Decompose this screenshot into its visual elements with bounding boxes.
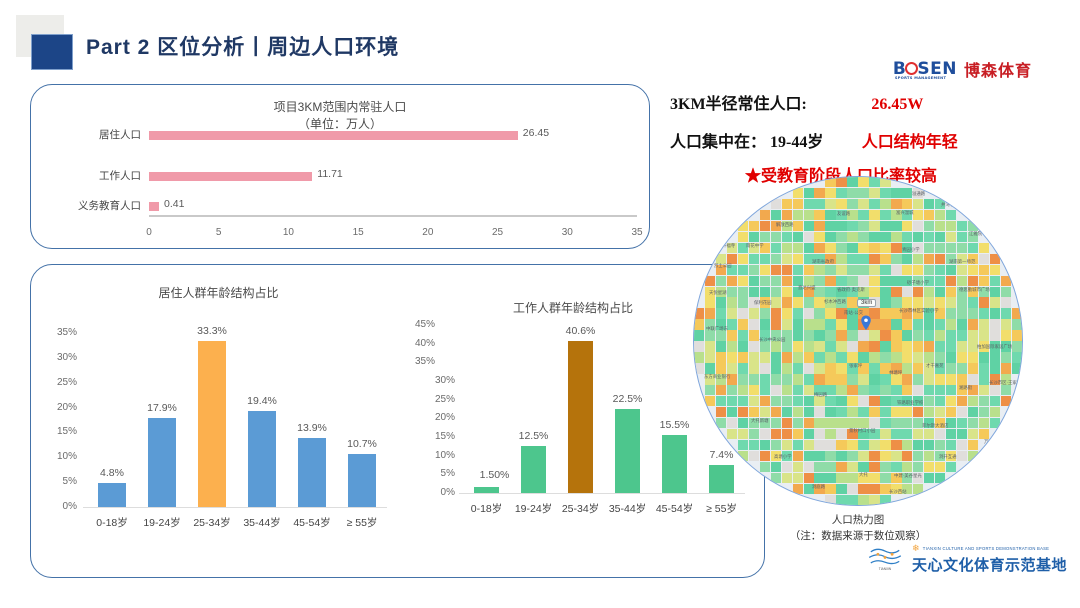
heatmap-cell bbox=[957, 418, 967, 428]
heatmap-cell bbox=[869, 199, 879, 209]
heatmap-cell bbox=[946, 308, 956, 318]
hbar-xtick-15: 15 bbox=[353, 227, 364, 238]
flame-icon: ❄ bbox=[912, 543, 920, 554]
heatmap-cell bbox=[825, 473, 835, 483]
heatmap-cell bbox=[749, 297, 759, 307]
heatmap-cell bbox=[858, 177, 868, 187]
heatmap-cell bbox=[727, 308, 737, 318]
heatmap-cell bbox=[935, 462, 945, 472]
vbar2-bar-45-54岁 bbox=[662, 435, 687, 493]
heatmap-cell bbox=[705, 177, 715, 187]
vbar1-ytick-5%: 5% bbox=[63, 476, 77, 487]
heatmap-cell bbox=[836, 199, 846, 209]
heatmap-cell bbox=[957, 495, 967, 505]
heatmap-cell bbox=[836, 341, 846, 351]
heatmap-cell bbox=[694, 341, 704, 351]
heatmap-cell bbox=[716, 407, 726, 417]
heatmap-cell bbox=[782, 462, 792, 472]
heatmap-cell bbox=[782, 374, 792, 384]
vbar1-ytick-15%: 15% bbox=[57, 426, 77, 437]
heatmap-cell bbox=[924, 418, 934, 428]
heatmap-cell bbox=[836, 363, 846, 373]
heatmap-cell bbox=[847, 363, 857, 373]
heatmap-cell bbox=[814, 276, 824, 286]
heatmap-cell bbox=[771, 352, 781, 362]
heatmap-cell bbox=[935, 330, 945, 340]
heatmap-cell bbox=[902, 385, 912, 395]
heatmap-cell bbox=[902, 254, 912, 264]
heatmap-cell bbox=[891, 330, 901, 340]
heatmap-cell bbox=[1012, 276, 1022, 286]
heatmap-cell bbox=[760, 352, 770, 362]
heatmap-cell bbox=[869, 440, 879, 450]
heatmap-cell bbox=[793, 308, 803, 318]
heatmap-cell bbox=[946, 210, 956, 220]
heatmap-cell bbox=[793, 199, 803, 209]
heatmap-cell bbox=[793, 177, 803, 187]
heatmap-cell bbox=[979, 363, 989, 373]
heatmap-cell bbox=[825, 210, 835, 220]
heatmap-cell bbox=[858, 210, 868, 220]
heatmap-cell bbox=[979, 319, 989, 329]
heatmap-cell bbox=[979, 385, 989, 395]
heatmap-cell bbox=[891, 276, 901, 286]
heatmap-cell bbox=[749, 254, 759, 264]
heatmap-cell bbox=[858, 451, 868, 461]
vbar1-ytick-35%: 35% bbox=[57, 327, 77, 338]
heatmap-cell bbox=[716, 221, 726, 231]
heatmap-cell bbox=[946, 451, 956, 461]
heatmap-cell bbox=[1012, 374, 1022, 384]
heatmap-cell bbox=[880, 265, 890, 275]
heatmap-cell bbox=[771, 188, 781, 198]
heatmap-cell bbox=[924, 232, 934, 242]
heatmap-cell bbox=[836, 188, 846, 198]
heatmap-cell bbox=[804, 210, 814, 220]
heatmap-cell bbox=[968, 199, 978, 209]
heatmap-cell bbox=[1001, 374, 1011, 384]
heatmap-cell bbox=[847, 374, 857, 384]
heatmap-cell bbox=[738, 363, 748, 373]
vbar1-bar-35-44岁 bbox=[248, 411, 276, 507]
heatmap-cell bbox=[804, 287, 814, 297]
heatmap-cell bbox=[705, 429, 715, 439]
heatmap-cell bbox=[979, 276, 989, 286]
heatmap-cell bbox=[924, 407, 934, 417]
heatmap-cell bbox=[990, 210, 1000, 220]
heatmap-cell bbox=[771, 396, 781, 406]
heatmap-cell bbox=[760, 451, 770, 461]
heatmap-cell bbox=[946, 265, 956, 275]
heatmap-cell bbox=[1012, 495, 1022, 505]
heatmap-cell bbox=[946, 418, 956, 428]
heatmap-cell bbox=[836, 210, 846, 220]
heatmap-cell bbox=[880, 297, 890, 307]
heatmap-cell bbox=[705, 308, 715, 318]
heatmap-cell bbox=[738, 199, 748, 209]
heatmap-cell bbox=[847, 462, 857, 472]
heatmap-cell bbox=[814, 374, 824, 384]
heatmap-cell bbox=[814, 221, 824, 231]
heatmap-cell bbox=[924, 276, 934, 286]
heatmap-cell bbox=[749, 330, 759, 340]
heatmap-cell bbox=[825, 287, 835, 297]
heatmap-cell bbox=[782, 221, 792, 231]
heatmap-cell bbox=[814, 319, 824, 329]
heatmap-cell bbox=[804, 484, 814, 494]
heatmap-cell bbox=[858, 243, 868, 253]
heatmap-cell bbox=[749, 177, 759, 187]
heatmap-cell bbox=[946, 352, 956, 362]
heatmap-cell bbox=[836, 418, 846, 428]
heatmap-cell bbox=[814, 462, 824, 472]
heatmap-cell bbox=[924, 297, 934, 307]
heatmap-cell bbox=[782, 210, 792, 220]
vbar2-ytick-45%: 45% bbox=[415, 319, 435, 330]
heatmap-cell bbox=[760, 221, 770, 231]
heatmap-cell bbox=[946, 243, 956, 253]
heatmap-cell bbox=[979, 374, 989, 384]
heatmap-cell bbox=[1001, 352, 1011, 362]
heatmap-cell bbox=[924, 462, 934, 472]
heatmap-cell bbox=[738, 243, 748, 253]
heatmap-cell bbox=[793, 297, 803, 307]
heatmap-cell bbox=[749, 308, 759, 318]
heatmap-cell bbox=[913, 440, 923, 450]
heatmap-cell bbox=[1012, 254, 1022, 264]
heatmap-cell bbox=[771, 319, 781, 329]
heatmap-cell bbox=[836, 232, 846, 242]
heatmap-cell bbox=[880, 276, 890, 286]
heatmap-cell bbox=[1001, 396, 1011, 406]
bar-category-居住人口: 居住人口 bbox=[99, 127, 141, 142]
heatmap-cell bbox=[749, 265, 759, 275]
heatmap-cell bbox=[793, 188, 803, 198]
vbar1-value-35-44岁: 19.4% bbox=[247, 395, 277, 407]
heatmap-cell bbox=[760, 374, 770, 384]
heatmap-cell bbox=[924, 254, 934, 264]
heatmap-cell bbox=[869, 473, 879, 483]
heatmap-cell bbox=[957, 374, 967, 384]
heatmap-cell bbox=[782, 199, 792, 209]
heatmap-cell bbox=[858, 254, 868, 264]
heatmap-cell bbox=[771, 462, 781, 472]
heatmap-cell bbox=[738, 177, 748, 187]
heatmap-cell bbox=[913, 319, 923, 329]
heatmap-cell bbox=[924, 363, 934, 373]
heatmap-cell bbox=[946, 341, 956, 351]
heatmap-cell bbox=[891, 199, 901, 209]
vbar1-ytick-0%: 0% bbox=[63, 501, 77, 512]
heatmap-cell bbox=[946, 462, 956, 472]
heatmap-cell bbox=[968, 188, 978, 198]
heatmap-cell bbox=[924, 451, 934, 461]
heatmap-cell bbox=[1012, 429, 1022, 439]
heatmap-cell bbox=[793, 287, 803, 297]
heatmap-cell bbox=[979, 188, 989, 198]
heatmap-cell bbox=[880, 210, 890, 220]
vbar2-ytick-10%: 10% bbox=[435, 450, 455, 461]
heatmap-cell bbox=[749, 374, 759, 384]
heatmap-cell bbox=[771, 374, 781, 384]
heatmap-cell bbox=[771, 287, 781, 297]
heatmap-cell bbox=[979, 341, 989, 351]
heatmap-cell bbox=[990, 462, 1000, 472]
heatmap-cell bbox=[858, 473, 868, 483]
heatmap-cell bbox=[705, 265, 715, 275]
heatmap-cell bbox=[782, 188, 792, 198]
heatmap-cell bbox=[935, 363, 945, 373]
heatmap-cell bbox=[749, 363, 759, 373]
heatmap-cell bbox=[793, 221, 803, 231]
heatmap-cell bbox=[979, 199, 989, 209]
heatmap-cell bbox=[902, 319, 912, 329]
heatmap-cell bbox=[858, 287, 868, 297]
heatmap-cell bbox=[990, 429, 1000, 439]
page-title: Part 2 区位分析丨周边人口环境 bbox=[86, 31, 399, 61]
slide-root: Part 2 区位分析丨周边人口环境 BSEN SPORTS MANAGEMEN… bbox=[0, 0, 1080, 608]
heatmap-cell bbox=[847, 484, 857, 494]
heatmap-cell bbox=[847, 232, 857, 242]
heatmap-cell bbox=[814, 330, 824, 340]
heatmap-cell bbox=[760, 210, 770, 220]
heatmap-cell bbox=[902, 243, 912, 253]
heatmap-cell bbox=[913, 352, 923, 362]
heatmap-cell bbox=[749, 473, 759, 483]
heatmap-cell bbox=[990, 385, 1000, 395]
heatmap-cell bbox=[727, 265, 737, 275]
heatmap-caption: 人口热力图 （注：数据来源于数位观察） bbox=[693, 513, 1023, 545]
heatmap-cell bbox=[825, 232, 835, 242]
heatmap-cell bbox=[902, 221, 912, 231]
heatmap-cell bbox=[804, 319, 814, 329]
heatmap-cell bbox=[793, 265, 803, 275]
heatmap-cell bbox=[891, 308, 901, 318]
heatmap-cell bbox=[990, 418, 1000, 428]
heatmap-cell bbox=[979, 495, 989, 505]
heatmap-cell bbox=[891, 429, 901, 439]
brand-mark: BSEN SPORTS MANAGEMENT bbox=[893, 59, 957, 79]
heatmap-cell bbox=[694, 254, 704, 264]
heatmap-cell bbox=[793, 232, 803, 242]
heatmap-cell bbox=[793, 418, 803, 428]
heatmap-cell bbox=[825, 221, 835, 231]
vbar1-ytick-10%: 10% bbox=[57, 451, 77, 462]
heatmap-cell bbox=[891, 385, 901, 395]
heatmap-cell bbox=[804, 297, 814, 307]
heatmap-cell bbox=[694, 484, 704, 494]
heatmap-cell bbox=[1001, 440, 1011, 450]
heatmap-cell bbox=[1001, 341, 1011, 351]
heatmap-cell bbox=[694, 210, 704, 220]
heatmap-cell bbox=[946, 495, 956, 505]
heatmap-cell bbox=[869, 429, 879, 439]
heatmap-cell bbox=[891, 341, 901, 351]
heatmap-cell bbox=[957, 188, 967, 198]
heatmap-cell bbox=[1001, 330, 1011, 340]
heatmap-cell bbox=[990, 473, 1000, 483]
heatmap-cell bbox=[858, 330, 868, 340]
heatmap-cell bbox=[694, 297, 704, 307]
heatmap-cell bbox=[968, 221, 978, 231]
heatmap-cell bbox=[1001, 495, 1011, 505]
vbar2-ytick-20%: 20% bbox=[435, 412, 455, 423]
heatmap-cell bbox=[738, 297, 748, 307]
heatmap-cell bbox=[990, 243, 1000, 253]
heatmap-cell bbox=[836, 396, 846, 406]
heatmap-cell bbox=[935, 374, 945, 384]
heatmap-cell bbox=[1012, 462, 1022, 472]
heatmap-cell bbox=[825, 429, 835, 439]
heatmap-cell bbox=[705, 232, 715, 242]
heatmap-cell bbox=[836, 221, 846, 231]
heatmap-cell bbox=[847, 308, 857, 318]
heatmap-cell bbox=[716, 352, 726, 362]
heatmap-cell bbox=[760, 363, 770, 373]
heatmap-cell bbox=[902, 473, 912, 483]
heatmap-cell bbox=[804, 221, 814, 231]
heatmap-cell bbox=[847, 319, 857, 329]
heatmap-cell bbox=[814, 297, 824, 307]
heatmap-cell bbox=[957, 276, 967, 286]
heatmap-cell bbox=[891, 297, 901, 307]
highlight-key-age: 人口集中在： 19-44岁 bbox=[670, 134, 823, 151]
heatmap-cell bbox=[814, 418, 824, 428]
heatmap-cell bbox=[705, 297, 715, 307]
heatmap-cell bbox=[902, 363, 912, 373]
heatmap-cell bbox=[727, 188, 737, 198]
vbar2-ytick-5%: 5% bbox=[441, 468, 455, 479]
heatmap-cell bbox=[957, 199, 967, 209]
heatmap-cell bbox=[771, 265, 781, 275]
heatmap-cell bbox=[836, 495, 846, 505]
heatmap-cell bbox=[771, 297, 781, 307]
heatmap-cell bbox=[946, 199, 956, 209]
heatmap-cell bbox=[924, 177, 934, 187]
heatmap-cell bbox=[935, 265, 945, 275]
heatmap-cell bbox=[814, 265, 824, 275]
heatmap-cell bbox=[902, 440, 912, 450]
vbar2-ytick-0%: 0% bbox=[441, 487, 455, 498]
heatmap-cell bbox=[891, 188, 901, 198]
heatmap-cell bbox=[968, 451, 978, 461]
heatmap-cell bbox=[727, 462, 737, 472]
vbar2-value-19-24岁: 12.5% bbox=[519, 430, 549, 442]
heatmap-cell bbox=[968, 287, 978, 297]
heatmap-cell bbox=[1001, 363, 1011, 373]
heatmap-cell bbox=[935, 199, 945, 209]
heatmap-cell bbox=[957, 265, 967, 275]
heatmap-cell bbox=[749, 210, 759, 220]
heatmap-cell bbox=[847, 177, 857, 187]
heatmap-cell bbox=[847, 330, 857, 340]
heatmap-cell bbox=[705, 473, 715, 483]
heatmap-cell bbox=[979, 243, 989, 253]
heatmap-cell bbox=[727, 429, 737, 439]
heatmap-cell bbox=[825, 374, 835, 384]
heatmap-cell bbox=[968, 484, 978, 494]
heatmap-cell bbox=[858, 221, 868, 231]
heatmap-cell bbox=[990, 396, 1000, 406]
heatmap-cell bbox=[891, 396, 901, 406]
vbar1-category-25-34岁: 25-34岁 bbox=[193, 515, 230, 530]
highlight-row-age: 人口集中在： 19-44岁 人口结构年轻 bbox=[670, 128, 958, 152]
heatmap-cell bbox=[825, 188, 835, 198]
heatmap-cell bbox=[760, 243, 770, 253]
heatmap-cell bbox=[880, 451, 890, 461]
heatmap-cell bbox=[727, 352, 737, 362]
heatmap-cell bbox=[782, 308, 792, 318]
heatmap-cell bbox=[760, 276, 770, 286]
heatmap-cell bbox=[705, 374, 715, 384]
heatmap-cell bbox=[913, 177, 923, 187]
heatmap-cell bbox=[771, 341, 781, 351]
heatmap-cell bbox=[979, 440, 989, 450]
header-decoration-dark bbox=[31, 34, 73, 70]
heatmap-cell bbox=[880, 440, 890, 450]
heatmap-cell bbox=[979, 407, 989, 417]
heatmap-cell bbox=[1012, 363, 1022, 373]
vbar2-bar-19-24岁 bbox=[521, 446, 546, 493]
heatmap-cell bbox=[935, 429, 945, 439]
heatmap-cell bbox=[793, 495, 803, 505]
heatmap-cell bbox=[727, 341, 737, 351]
heatmap-cell bbox=[727, 287, 737, 297]
heatmap-cell bbox=[804, 451, 814, 461]
heatmap-cell bbox=[968, 319, 978, 329]
heatmap-cell bbox=[957, 396, 967, 406]
heatmap-cell bbox=[804, 495, 814, 505]
heatmap-cell bbox=[924, 287, 934, 297]
population-heatmap[interactable]: 湘江大道溢通路井湾子友谊路富兴温城解放西路江雅院开福寺雨花中学青园小学湖南省政府… bbox=[693, 176, 1023, 506]
heatmap-cell bbox=[760, 188, 770, 198]
heatmap-cell bbox=[836, 352, 846, 362]
heatmap-cell bbox=[814, 407, 824, 417]
heatmap-cell bbox=[869, 243, 879, 253]
heatmap-cell bbox=[1012, 385, 1022, 395]
brand-logo-bosen: BSEN SPORTS MANAGEMENT 博森体育 bbox=[893, 57, 1032, 81]
heatmap-cell bbox=[1001, 385, 1011, 395]
heatmap-cell bbox=[814, 440, 824, 450]
heatmap-cell bbox=[694, 199, 704, 209]
footer-logo-en-row: ❄ TIANXIN CULTURE AND SPORTS DEMONSTRATI… bbox=[912, 543, 1067, 554]
bar-category-工作人口: 工作人口 bbox=[99, 168, 141, 183]
heatmap-cell bbox=[782, 330, 792, 340]
vbar1-value-≥ 55岁: 10.7% bbox=[347, 438, 377, 450]
heatmap-cell bbox=[957, 407, 967, 417]
vbar1-bar-25-34岁 bbox=[198, 341, 226, 507]
heatmap-cell bbox=[858, 429, 868, 439]
vbar2-category-45-54岁: 45-54岁 bbox=[656, 501, 693, 516]
heatmap-cell bbox=[847, 210, 857, 220]
heatmap-cell bbox=[902, 396, 912, 406]
heatmap-cell bbox=[771, 276, 781, 286]
heatmap-cell bbox=[727, 484, 737, 494]
heatmap-cell bbox=[814, 232, 824, 242]
heatmap-cell bbox=[935, 254, 945, 264]
heatmap-cell bbox=[782, 319, 792, 329]
heatmap-cell bbox=[836, 287, 846, 297]
vbar2-category-0-18岁: 0-18岁 bbox=[471, 501, 503, 516]
vbar2-plot-area: 0%5%10%15%20%25%30%35%40%45%1.50%0-18岁12… bbox=[403, 300, 743, 562]
heatmap-cell bbox=[935, 352, 945, 362]
heatmap-cell bbox=[782, 429, 792, 439]
heatmap-cell bbox=[705, 243, 715, 253]
heatmap-cell bbox=[1012, 484, 1022, 494]
heatmap-cell bbox=[1012, 341, 1022, 351]
heatmap-cell bbox=[738, 429, 748, 439]
heatmap-cell bbox=[946, 232, 956, 242]
